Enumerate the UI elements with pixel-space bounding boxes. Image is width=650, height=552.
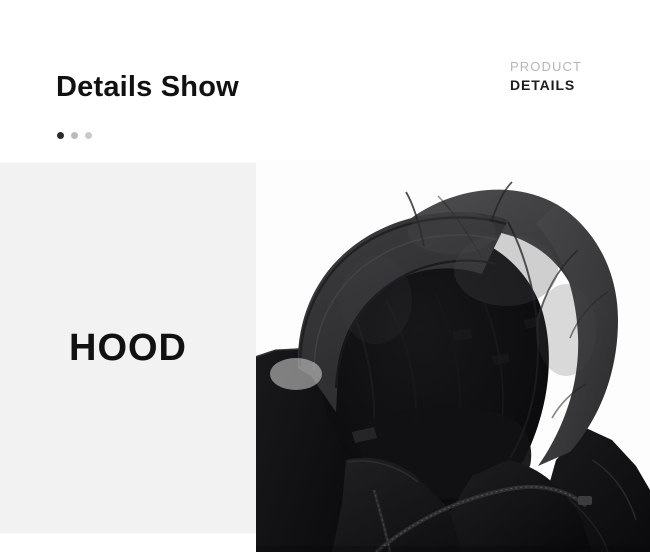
studio-shadow	[270, 358, 322, 390]
eyebrow-block: PRODUCT DETAILS	[510, 60, 582, 92]
feature-panel-label: HOOD	[0, 163, 256, 533]
jacket-illustration	[256, 160, 650, 552]
hood-puff-highlight-2	[408, 210, 496, 254]
hood-puff-highlight-3	[536, 284, 596, 376]
pagination-dot-1[interactable]	[57, 132, 64, 139]
eyebrow-subtitle: DETAILS	[510, 78, 582, 92]
page-title: Details Show	[56, 70, 239, 104]
zipper-pull	[578, 496, 592, 505]
product-photo	[256, 160, 650, 552]
product-details-banner: Details Show PRODUCT DETAILS HOOD	[0, 0, 650, 552]
photo-bottom-shadow	[256, 546, 650, 552]
hood-puff-highlight-4	[340, 256, 412, 344]
eyebrow-kicker: PRODUCT	[510, 60, 582, 73]
feature-panel: HOOD	[0, 163, 256, 533]
pagination-dots[interactable]	[57, 132, 92, 139]
pagination-dot-2[interactable]	[71, 132, 78, 139]
pagination-dot-3[interactable]	[85, 132, 92, 139]
